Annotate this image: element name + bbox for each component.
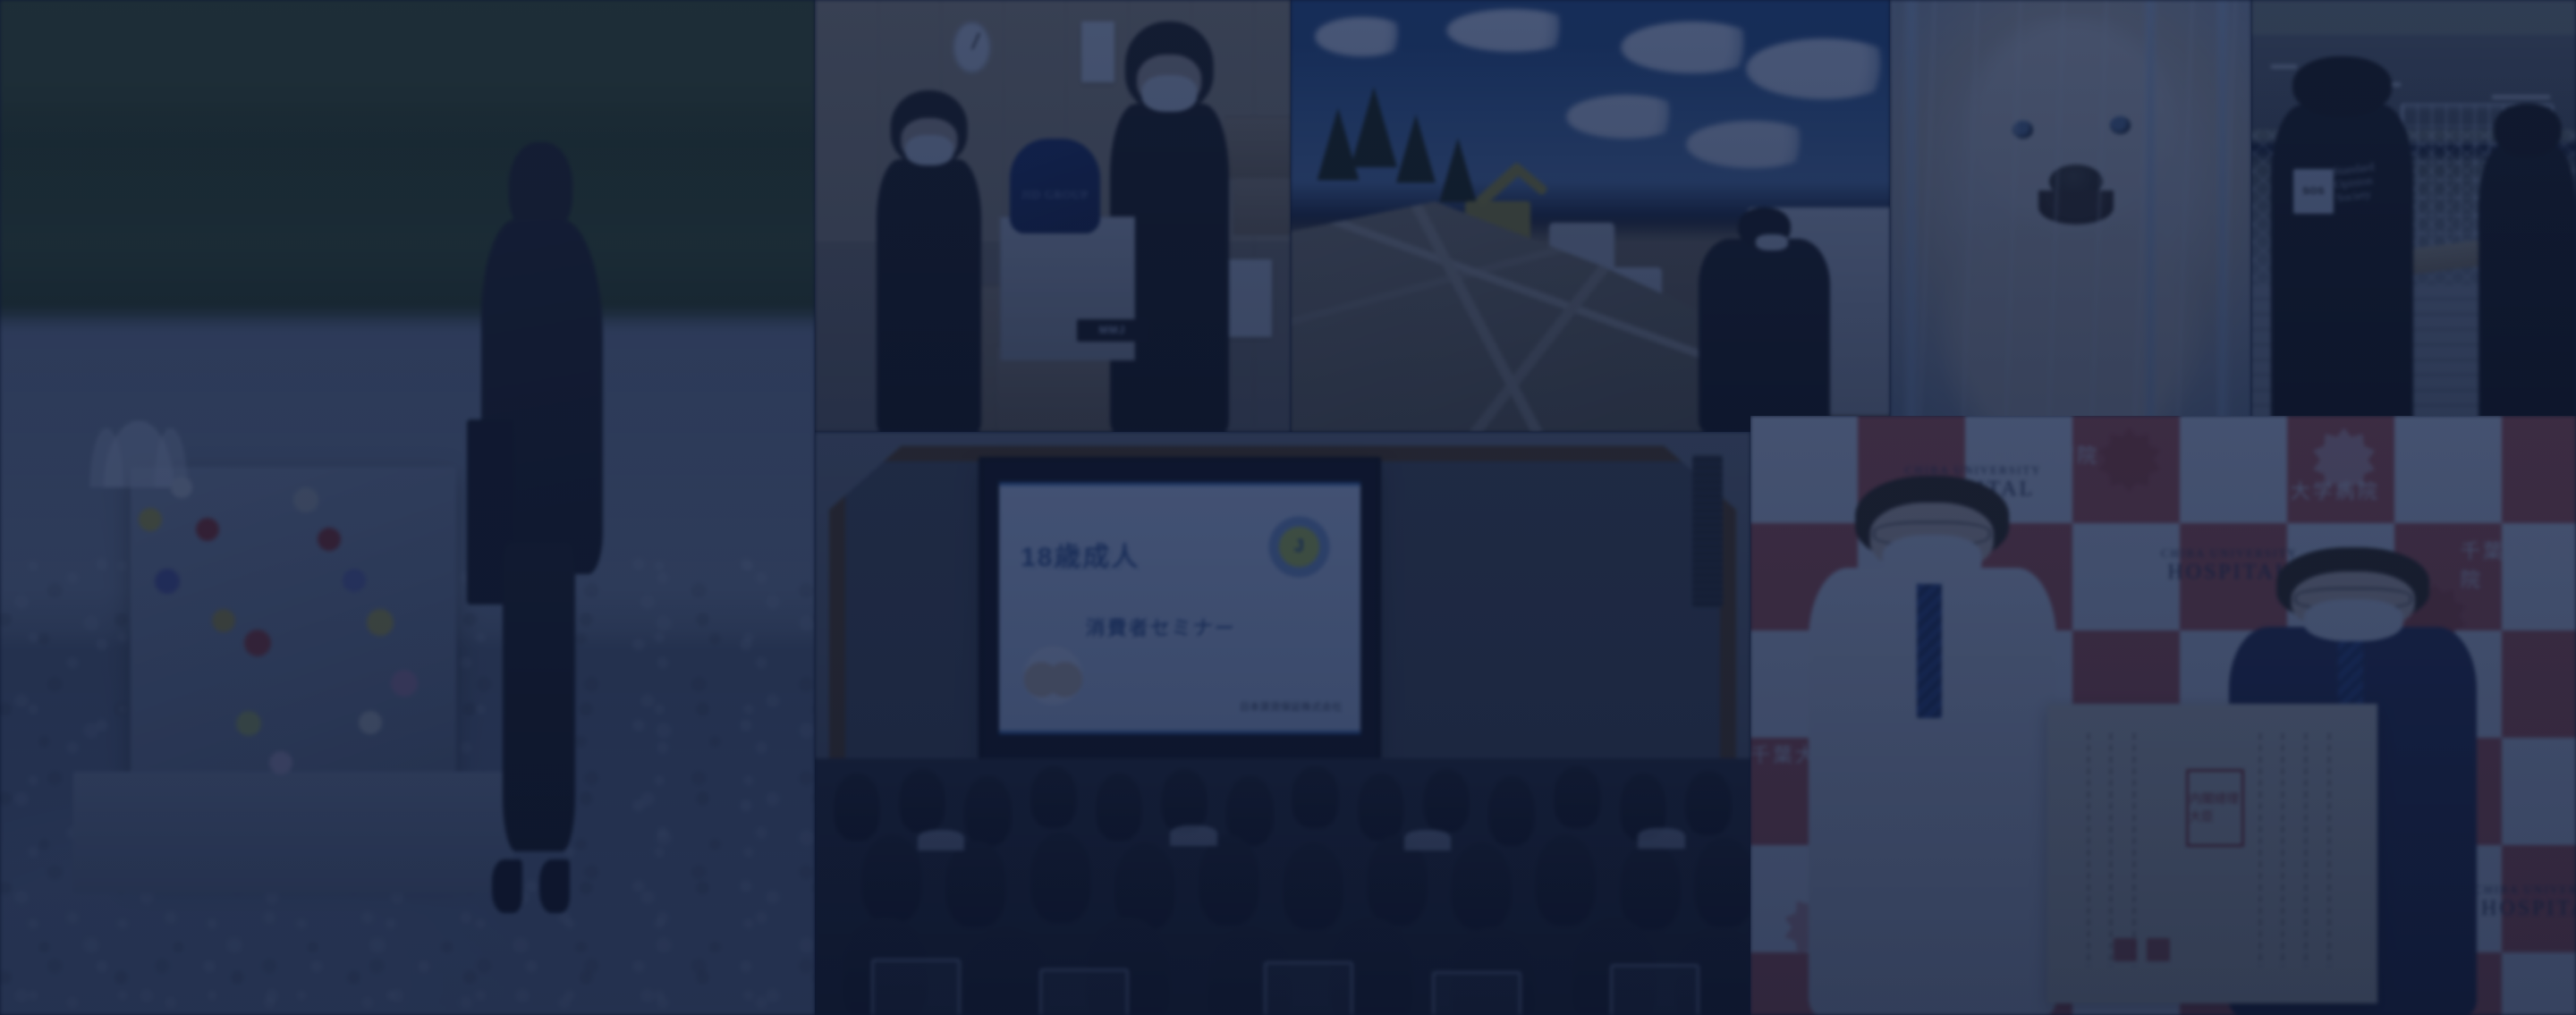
- necktie: [1917, 579, 1942, 719]
- wall-clock-icon: [953, 21, 991, 73]
- volunteer-body: [2271, 105, 2414, 432]
- seminar-photo-content: 18歳成人 J 消費者セミナー 日本賃貸保証株式会社: [815, 432, 1750, 1015]
- memorial-grave-photo: [0, 0, 815, 1015]
- flower-offering: [367, 609, 394, 636]
- woman-shoe: [539, 859, 570, 913]
- backdrop-logo-jp: 千葉大学病院: [1965, 440, 2099, 469]
- red-stamp: [2147, 938, 2170, 961]
- student-head: [834, 774, 880, 841]
- rescued-dog-photo: [1890, 0, 2251, 432]
- slide-title: 18歳成人: [1021, 535, 1259, 574]
- woman-shoe: [492, 859, 522, 913]
- flower-offering: [269, 751, 292, 774]
- student-collar: [1638, 828, 1684, 849]
- cardboard-box: [1233, 177, 1291, 235]
- volunteer-back: [2479, 104, 2576, 432]
- worker-body: [1699, 239, 1830, 432]
- flower-offering: [359, 711, 382, 734]
- woman-legs: [503, 543, 575, 851]
- student-head: [1161, 769, 1207, 833]
- debris-photo-content: [1291, 0, 1890, 432]
- cardboard-box: [1224, 116, 1291, 179]
- slide-illustration: [1021, 632, 1086, 710]
- flower-offering: [293, 487, 318, 512]
- volunteer-head: [2493, 104, 2561, 156]
- doctor-white-coat: [1809, 476, 2056, 1015]
- wire-cage-mesh: [1890, 0, 2251, 432]
- cage-bar: [2143, 0, 2157, 432]
- student-head: [1096, 774, 1142, 841]
- student-head: [964, 776, 1011, 845]
- praying-woman: [472, 142, 611, 914]
- certificate-text-column: [2282, 733, 2284, 967]
- slide-subtitle: 消費者セミナー: [1086, 613, 1332, 641]
- cage-bar: [1904, 0, 1919, 432]
- student-head: [964, 927, 1048, 1015]
- certificate-text-column: [2305, 733, 2307, 967]
- flower-offering: [155, 569, 180, 594]
- flower-offering: [236, 711, 261, 736]
- face-mask: [2303, 599, 2402, 641]
- flower-offering: [139, 508, 162, 531]
- face-mask: [905, 135, 953, 165]
- certificate-text-column: [2133, 733, 2135, 967]
- student-head: [1423, 769, 1470, 833]
- excavator-boom: [1510, 162, 1548, 197]
- staff-body: [877, 159, 981, 432]
- cage-bar: [2216, 0, 2230, 432]
- certificate-text-column: [2328, 733, 2330, 967]
- cloud: [1686, 121, 1818, 168]
- student-head: [1292, 766, 1338, 828]
- crosswalk-stripe: [2492, 95, 2550, 99]
- hero-collage-banner: MMJ JID GROUP: [0, 0, 2576, 1015]
- backdrop-logo-line-1: CHIBA UNIVERSITY: [2461, 884, 2576, 897]
- student-head: [1620, 843, 1681, 931]
- volunteer-body: [2479, 147, 2576, 432]
- backdrop-logo: CHIBA UNIVERSITY HOSPITAL: [2461, 884, 2576, 922]
- red-stamp: [2114, 938, 2137, 961]
- cloud: [1621, 21, 1765, 73]
- disaster-debris-cleanup-photo: [1291, 0, 1890, 432]
- cloud: [1746, 38, 1890, 99]
- certificate-text-column: [2088, 733, 2089, 967]
- folding-chair: [1039, 968, 1129, 1015]
- volunteer-head: [2292, 56, 2393, 116]
- student-head: [1451, 843, 1512, 931]
- student-head: [1358, 774, 1404, 841]
- student-head: [1488, 776, 1535, 845]
- student-head: [1554, 766, 1600, 828]
- cloud: [1566, 95, 1686, 138]
- backdrop-logo-jp: 千葉大学病院: [2246, 476, 2380, 504]
- student-head: [899, 769, 945, 833]
- folding-chair: [1432, 971, 1521, 1015]
- dog-photo-content: [1890, 0, 2251, 432]
- certificate-text-column: [2110, 733, 2112, 967]
- mmj-brand-label: MMJ: [1077, 319, 1148, 341]
- hospital-photo-content: CHIBA UNIVERSITY HOSPITAL CHIBA UNIVERSI…: [1750, 416, 2576, 1015]
- student-head: [945, 841, 1006, 928]
- chiba-hospital-award-photo: CHIBA UNIVERSITY HOSPITAL CHIBA UNIVERSI…: [1750, 416, 2576, 1015]
- flower-offering: [343, 569, 366, 592]
- sos-logo: SOS: [2293, 169, 2334, 214]
- student-head: [861, 835, 922, 923]
- student-audience: [815, 758, 1750, 1015]
- commendation-certificate: 内閣總理大臣: [2047, 704, 2377, 1003]
- cedar-tree: [1396, 114, 1436, 183]
- slide-credit: 日本賃貸保証株式会社: [1240, 699, 1343, 714]
- sos-photo-content: SOS Standard Opinion Society: [2251, 0, 2576, 432]
- consumer-seminar-photo: 18歳成人 J 消費者セミナー 日本賃貸保証株式会社: [815, 432, 1750, 1015]
- projection-screen: 18歳成人 J 消費者セミナー 日本賃貸保証株式会社: [983, 461, 1376, 765]
- slide-badge-icon: J: [1259, 505, 1339, 588]
- folding-chair: [871, 959, 961, 1015]
- flower-offering: [196, 518, 219, 541]
- volunteer-worker: [1699, 207, 1830, 432]
- face-mask: [1756, 234, 1787, 250]
- folding-chair: [1610, 964, 1699, 1015]
- animal-rescue-volunteers-photo: SOS Standard Opinion Society: [2251, 0, 2576, 432]
- lotus-carving: [81, 366, 196, 487]
- blue-relief-bag: JID GROUP: [1010, 139, 1100, 233]
- donation-photo-content: MMJ JID GROUP: [815, 0, 1291, 432]
- student-head: [1535, 835, 1596, 925]
- backdrop-logo-line-2: HOSPITAL: [2461, 897, 2576, 922]
- student-head: [1030, 833, 1091, 922]
- volunteer-front: SOS Standard Opinion Society: [2271, 56, 2414, 432]
- flower-offering: [212, 609, 235, 632]
- seminar-slide: 18歳成人 J 消費者セミナー 日本賃貸保証株式会社: [999, 482, 1360, 733]
- student-head: [1694, 838, 1750, 927]
- student-collar: [1404, 830, 1451, 850]
- relief-supplies-handover-photo: MMJ JID GROUP: [815, 0, 1291, 432]
- cedar-tree: [1351, 87, 1397, 167]
- shirt-slogan: Standard Opinion Society: [2333, 157, 2409, 233]
- cloud: [1315, 17, 1411, 55]
- student-head: [1685, 771, 1732, 835]
- student-head: [1199, 835, 1259, 925]
- student-collar: [1170, 825, 1216, 846]
- student-head: [1030, 766, 1077, 828]
- flower-offering: [244, 630, 271, 656]
- grave-photo-content: [0, 0, 815, 1015]
- student-head: [1283, 843, 1343, 931]
- monument-base: [73, 772, 513, 893]
- folding-chair: [1264, 961, 1353, 1015]
- prime-minister-seal: 内閣總理大臣: [2186, 769, 2244, 846]
- cloud: [1446, 9, 1578, 52]
- ceiling-speaker: [1692, 455, 1722, 607]
- face-mask: [1883, 535, 1982, 583]
- female-staff: [877, 90, 981, 432]
- face-mask: [1142, 75, 1197, 112]
- certificate-text-column: [2259, 733, 2261, 967]
- backdrop-logo-jp: 千葉大学病院: [2461, 536, 2576, 593]
- student-collar: [918, 830, 964, 850]
- bag-logo-text: JID GROUP: [1010, 188, 1100, 202]
